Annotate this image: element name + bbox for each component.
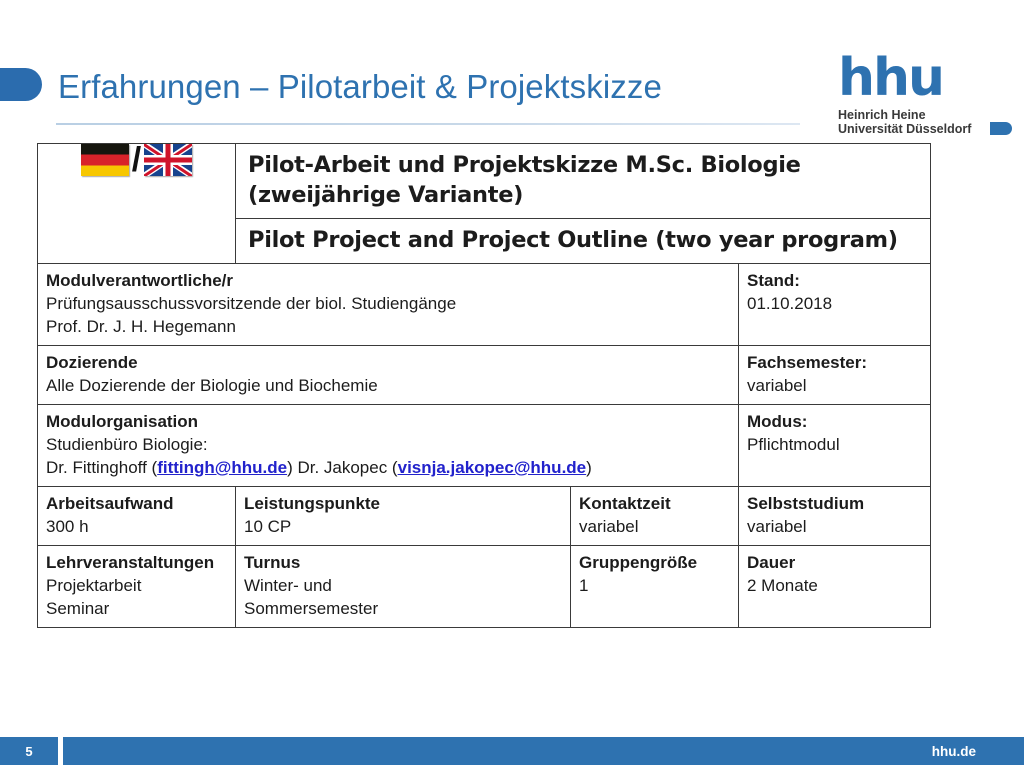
table-row: Dozierende Alle Dozierende der Biologie … [38, 346, 931, 405]
cell-value-line2: Prof. Dr. J. H. Hegemann [46, 315, 730, 338]
cell-stand: Stand: 01.10.2018 [739, 264, 931, 346]
cell-value-line1: Projektarbeit [46, 574, 227, 597]
cell-value-line2: Seminar [46, 597, 227, 620]
module-description-table: / Pilot-Arbeit und Projektskizze M.Sc. B… [37, 143, 931, 628]
contact-middle: ) Dr. Jakopec ( [287, 458, 398, 477]
slide-header: Erfahrungen – Pilotarbeit & Projektskizz… [0, 0, 1024, 135]
cell-modulorganisation: Modulorganisation Studienbüro Biologie: … [38, 405, 739, 487]
cell-label: Modus: [747, 410, 922, 433]
cell-modulverantwortliche: Modulverantwortliche/r Prüfungsausschuss… [38, 264, 739, 346]
hhu-logo: hhu Heinrich Heine Universität Düsseldor… [816, 54, 996, 136]
flag-separator: / [131, 144, 142, 176]
module-title-de: Pilot-Arbeit und Projektskizze M.Sc. Bio… [236, 144, 931, 219]
cell-value: 300 h [46, 515, 227, 538]
cell-value: variabel [747, 515, 922, 538]
hhu-logo-subtitle: Heinrich Heine Universität Düsseldorf [816, 102, 996, 136]
cell-value-line1: Studienbüro Biologie: [46, 433, 730, 456]
cell-label: Selbststudium [747, 492, 922, 515]
module-title-en: Pilot Project and Project Outline (two y… [236, 219, 931, 264]
contact-suffix: ) [586, 458, 592, 477]
cell-dozierende: Dozierende Alle Dozierende der Biologie … [38, 346, 739, 405]
cell-contact-line: Dr. Fittinghoff (fittingh@hhu.de) Dr. Ja… [46, 456, 730, 479]
page-number-badge: 5 [0, 737, 58, 765]
language-flags-cell: / [38, 144, 236, 264]
hhu-wordmark: hhu [816, 54, 996, 102]
slide-footer: 5 hhu.de [0, 732, 1024, 770]
cell-value: variabel [747, 374, 922, 397]
cell-label: Modulorganisation [46, 410, 730, 433]
cell-value: Pflichtmodul [747, 433, 922, 456]
cell-value-line1: Prüfungsausschussvorsitzende der biol. S… [46, 292, 730, 315]
cell-label: Turnus [244, 551, 562, 574]
table-row: Lehrveranstaltungen Projektarbeit Semina… [38, 546, 931, 628]
cell-kontaktzeit: Kontaktzeit variabel [571, 487, 739, 546]
cell-value-line1: Alle Dozierende der Biologie und Biochem… [46, 374, 730, 397]
cell-value: variabel [579, 515, 730, 538]
table-row: Modulverantwortliche/r Prüfungsausschuss… [38, 264, 931, 346]
cell-label: Modulverantwortliche/r [46, 269, 730, 292]
hhu-logo-dot-shape [990, 122, 1012, 135]
cell-value-line1: 1 [579, 574, 730, 597]
cell-label: Fachsemester: [747, 351, 922, 374]
cell-label: Leistungspunkte [244, 492, 562, 515]
uk-flag-icon [144, 144, 192, 176]
german-flag-icon [81, 144, 129, 176]
table-row: Modulorganisation Studienbüro Biologie: … [38, 405, 931, 487]
cell-modus: Modus: Pflichtmodul [739, 405, 931, 487]
email-link-fittinghoff[interactable]: fittingh@hhu.de [157, 458, 287, 477]
cell-lehrveranstaltungen: Lehrveranstaltungen Projektarbeit Semina… [38, 546, 236, 628]
footer-bar [63, 737, 1024, 765]
contact-prefix: Dr. Fittinghoff ( [46, 458, 157, 477]
cell-fachsemester: Fachsemester: variabel [739, 346, 931, 405]
cell-leistungspunkte: Leistungspunkte 10 CP [236, 487, 571, 546]
cell-label: Dauer [747, 551, 922, 574]
title-bullet-shape [0, 68, 42, 101]
cell-arbeitsaufwand: Arbeitsaufwand 300 h [38, 487, 236, 546]
cell-selbststudium: Selbststudium variabel [739, 487, 931, 546]
title-divider [56, 123, 800, 125]
cell-label: Gruppengröße [579, 551, 730, 574]
flags-group: / [38, 144, 235, 176]
cell-label: Kontaktzeit [579, 492, 730, 515]
cell-value: 01.10.2018 [747, 292, 922, 315]
cell-label: Dozierende [46, 351, 730, 374]
table-row-title-de: / Pilot-Arbeit und Projektskizze M.Sc. B… [38, 144, 931, 219]
cell-gruppengroesse: Gruppengröße 1 [571, 546, 739, 628]
footer-url: hhu.de [932, 737, 976, 765]
page-title: Erfahrungen – Pilotarbeit & Projektskizz… [58, 68, 662, 106]
hhu-logo-subtitle-line1: Heinrich Heine [838, 108, 996, 122]
hhu-logo-subtitle-line2: Universität Düsseldorf [838, 122, 996, 136]
cell-value-line2: Sommersemester [244, 597, 562, 620]
cell-label: Stand: [747, 269, 922, 292]
cell-label: Arbeitsaufwand [46, 492, 227, 515]
cell-value-line1: Winter- und [244, 574, 562, 597]
cell-label: Lehrveranstaltungen [46, 551, 227, 574]
cell-dauer: Dauer 2 Monate [739, 546, 931, 628]
email-link-jakopec[interactable]: visnja.jakopec@hhu.de [398, 458, 587, 477]
table-row: Arbeitsaufwand 300 h Leistungspunkte 10 … [38, 487, 931, 546]
cell-turnus: Turnus Winter- und Sommersemester [236, 546, 571, 628]
cell-value-line1: 2 Monate [747, 574, 922, 597]
cell-value: 10 CP [244, 515, 562, 538]
